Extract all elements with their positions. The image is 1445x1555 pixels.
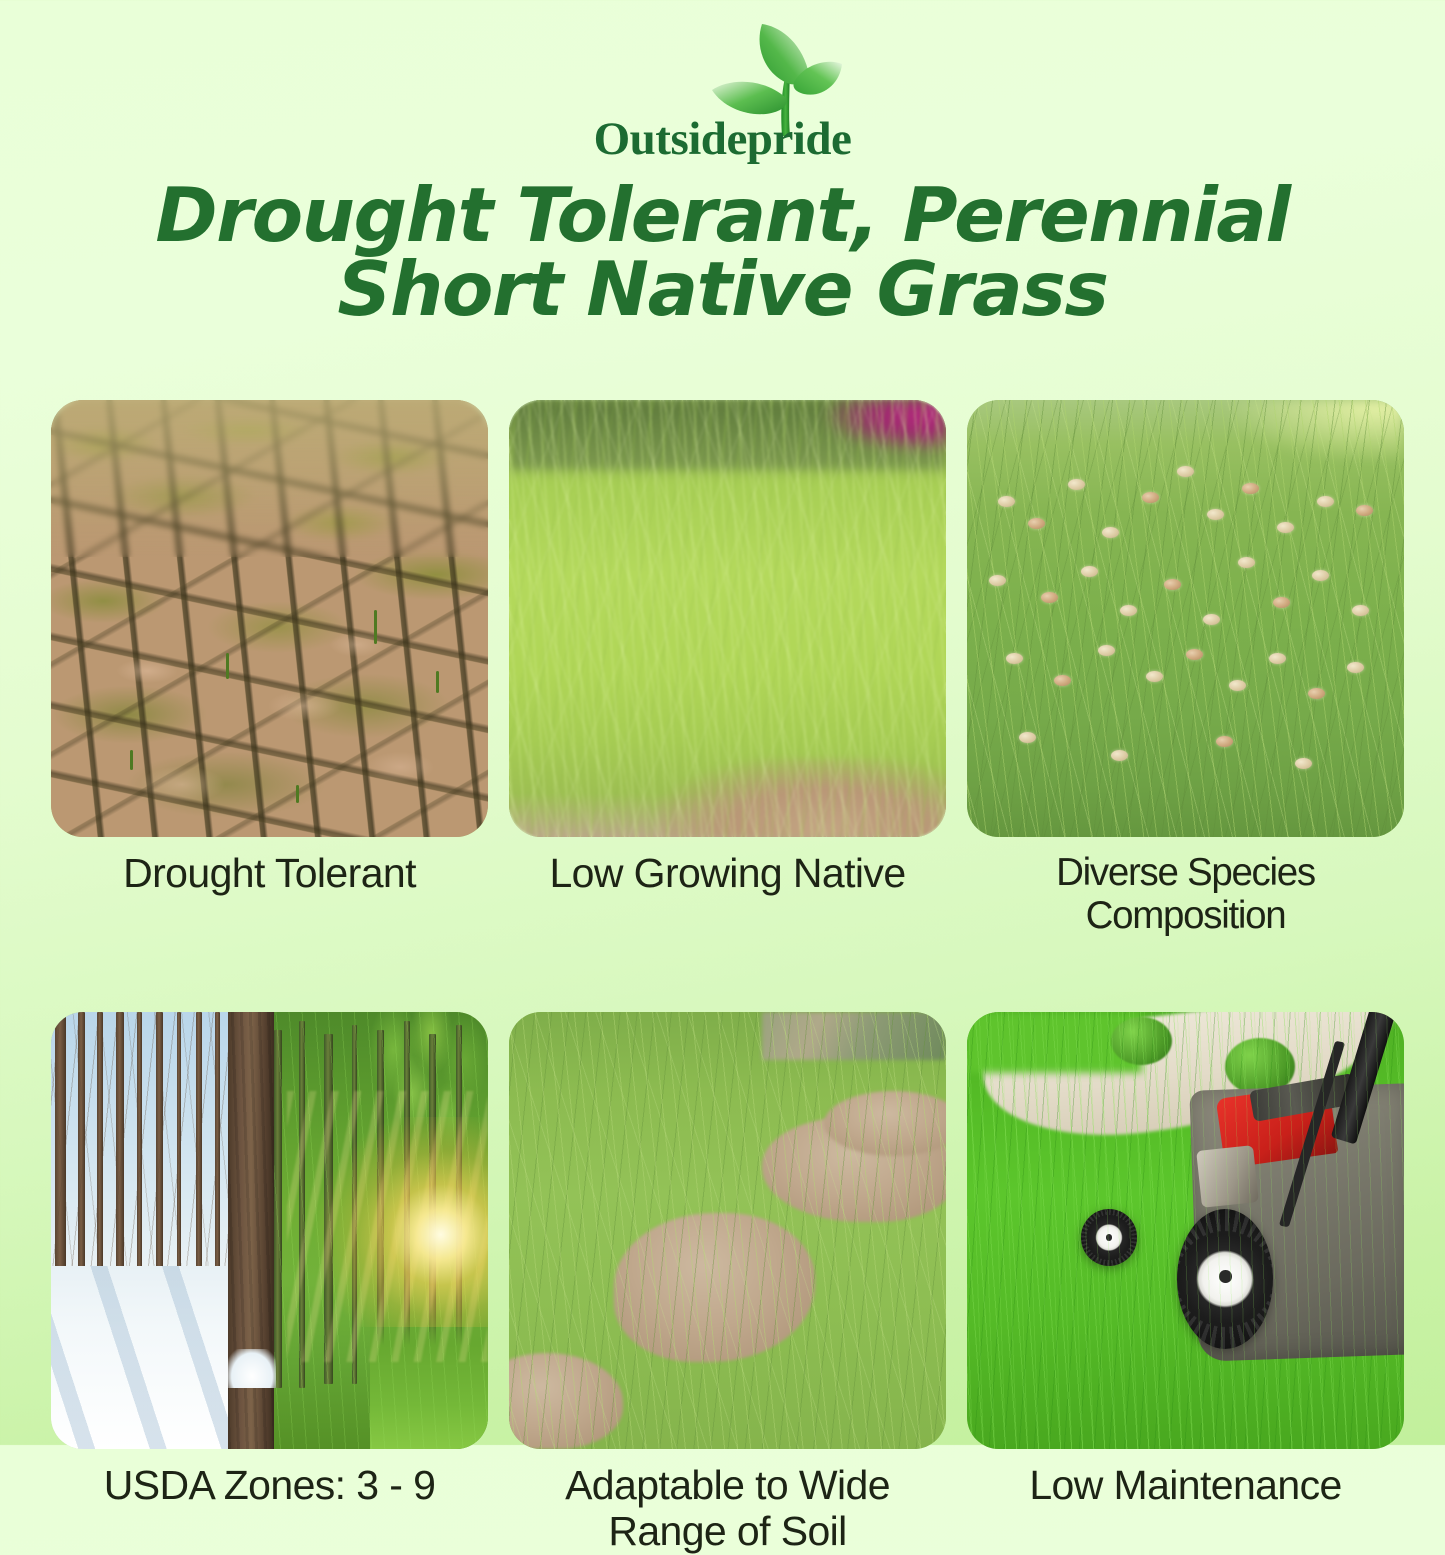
grass-meadow-with-seedheads-photo xyxy=(967,400,1404,837)
winter-summer-forest-split-photo xyxy=(51,1012,488,1449)
feature-card-adaptable-soil: Adaptable to Wide Range of Soil xyxy=(509,1012,946,1555)
headline-line-2: Short Native Grass xyxy=(93,252,1353,326)
feature-caption: Low Growing Native xyxy=(509,851,946,897)
headline-line-1: Drought Tolerant, Perennial xyxy=(93,178,1353,252)
grass-with-soil-patches-photo xyxy=(509,1012,946,1449)
feature-card-usda-zones: USDA Zones: 3 - 9 xyxy=(51,1012,488,1555)
low-growing-green-grass-photo xyxy=(509,400,946,837)
brand-name: Outsidepride xyxy=(558,116,888,163)
feature-caption: Adaptable to Wide Range of Soil xyxy=(509,1463,946,1555)
feature-card-low-maintenance: Low Maintenance xyxy=(967,1012,1404,1555)
feature-card-diverse-species: Diverse Species Composition xyxy=(967,400,1404,937)
feature-caption: Diverse Species Composition xyxy=(967,851,1404,937)
brand-logo: Outsidepride xyxy=(558,18,888,170)
feature-caption: USDA Zones: 3 - 9 xyxy=(51,1463,488,1509)
lawn-mower-on-green-lawn-photo xyxy=(967,1012,1404,1449)
feature-grid: Drought Tolerant Low Growing Native xyxy=(51,400,1404,1555)
feature-caption: Low Maintenance xyxy=(967,1463,1404,1509)
feature-caption: Drought Tolerant xyxy=(51,851,488,897)
header: Outsidepride Drought Tolerant, Perennial… xyxy=(0,0,1445,327)
page-title: Drought Tolerant, Perennial Short Native… xyxy=(93,178,1353,327)
feature-card-low-growing-native: Low Growing Native xyxy=(509,400,946,937)
cracked-dry-earth-photo xyxy=(51,400,488,837)
feature-card-drought-tolerant: Drought Tolerant xyxy=(51,400,488,937)
